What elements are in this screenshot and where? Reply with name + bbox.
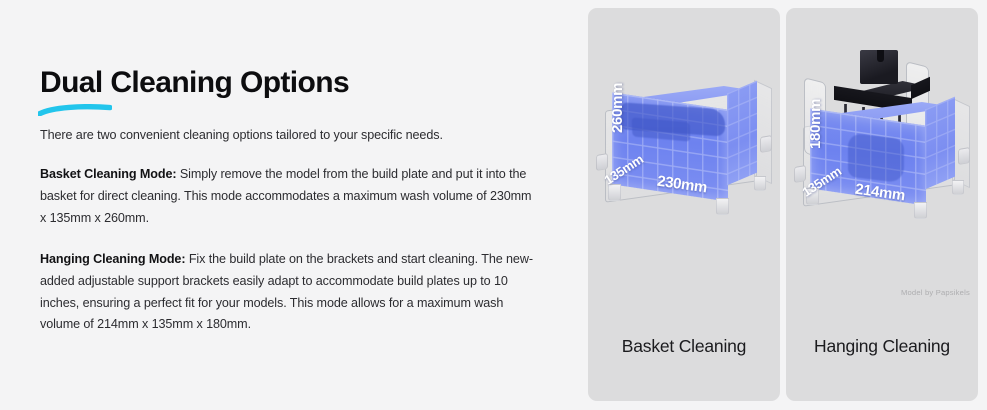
paragraph-basket-mode-label: Basket Cleaning Mode: <box>40 167 176 181</box>
dimension-height-label: 260mm <box>609 83 626 133</box>
accent-underline-icon <box>38 104 112 116</box>
paragraph-hanging-mode: Hanging Cleaning Mode: Fix the build pla… <box>40 249 540 336</box>
basket-side-mesh-texture <box>925 97 955 190</box>
basket-side-face <box>925 97 955 190</box>
tank-leg-back-right <box>754 176 766 191</box>
tank-handle-left <box>596 153 608 171</box>
basket-side-face <box>727 81 757 186</box>
build-plate-mount-block <box>860 50 898 84</box>
panel-hanging-caption: Hanging Cleaning <box>786 336 978 357</box>
text-column: Dual Cleaning Options There are two conv… <box>40 66 540 336</box>
printed-model <box>848 133 904 184</box>
tank-leg-back-right <box>952 180 964 195</box>
basket-side-mesh-texture <box>727 81 757 186</box>
paragraph-hanging-mode-label: Hanging Cleaning Mode: <box>40 252 185 266</box>
heading-group: Dual Cleaning Options <box>40 66 349 100</box>
tank-leg-front-right <box>914 202 927 219</box>
basket-cleaning-illustration: 260mm 135mm 230mm <box>588 8 780 308</box>
tank-handle-right <box>760 135 772 153</box>
model-credit-watermark: Model by Papsikels <box>901 288 970 297</box>
image-panels: 260mm 135mm 230mm Basket Cleaning <box>588 8 978 401</box>
panel-basket-cleaning[interactable]: 260mm 135mm 230mm Basket Cleaning <box>588 8 780 401</box>
mount-block-notch <box>877 50 883 62</box>
dual-cleaning-options-section: Dual Cleaning Options There are two conv… <box>0 0 987 410</box>
tank-handle-right <box>958 147 970 165</box>
panel-basket-caption: Basket Cleaning <box>588 336 780 357</box>
intro-text: There are two convenient cleaning option… <box>40 126 540 145</box>
paragraph-basket-mode: Basket Cleaning Mode: Simply remove the … <box>40 164 540 229</box>
dimension-height-label: 180mm <box>807 99 824 149</box>
page-title: Dual Cleaning Options <box>40 66 349 100</box>
panel-hanging-cleaning[interactable]: 180mm 135mm 214mm Model by Papsikels Han… <box>786 8 978 401</box>
tank-leg-front-right <box>716 198 729 215</box>
hanging-cleaning-illustration: 180mm 135mm 214mm <box>786 8 978 308</box>
tank-handle-left <box>794 165 806 183</box>
